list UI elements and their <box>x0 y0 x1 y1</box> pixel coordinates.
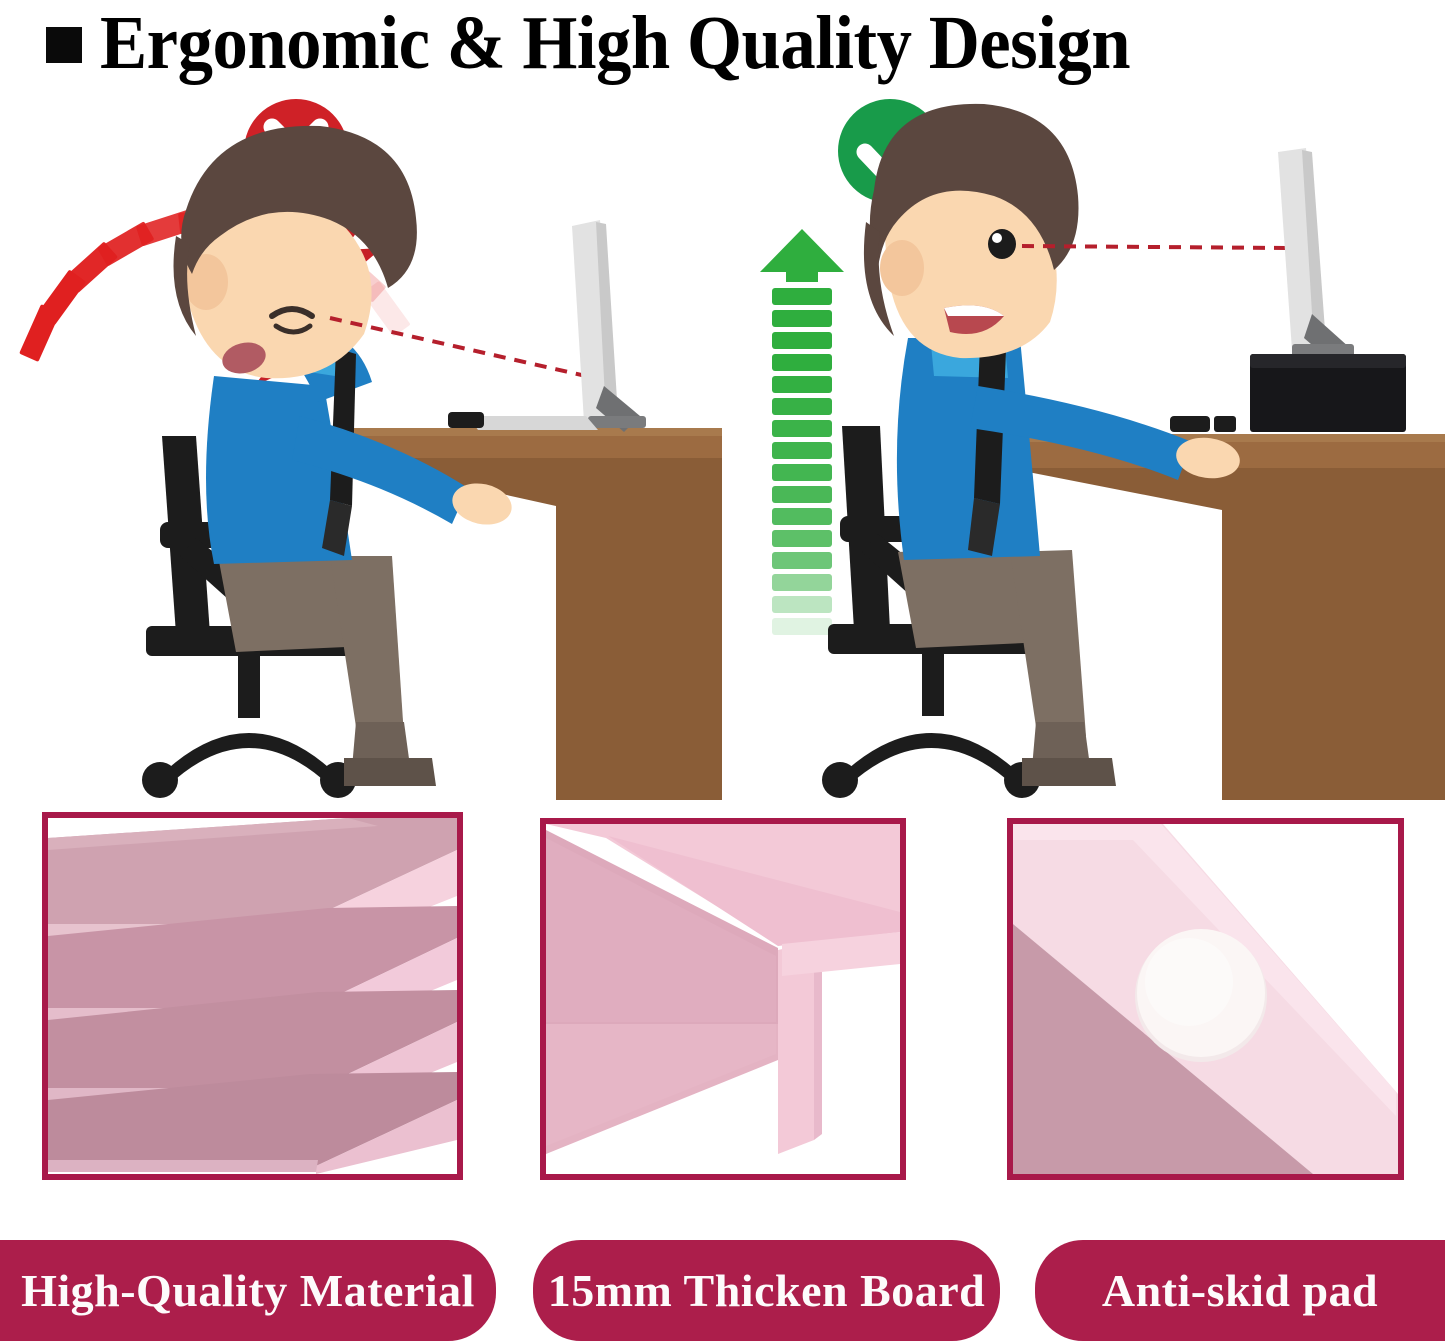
bad-posture-scene <box>0 86 722 800</box>
sight-line <box>330 318 586 376</box>
caption-banner-antiskid: Anti-skid pad <box>1035 1240 1445 1341</box>
monitor <box>1278 148 1354 364</box>
posture-comparison-illustration <box>0 86 1445 800</box>
stack-of-pink-boards-photo <box>48 818 457 1174</box>
monitor <box>572 220 646 432</box>
caption-label-material: High-Quality Material <box>21 1264 475 1317</box>
pink-board-edge-thickness-photo <box>546 824 900 1174</box>
feature-panel-thickness <box>540 818 906 1180</box>
green-up-arrow-icon <box>760 229 844 635</box>
head <box>864 104 1079 358</box>
monitor-riser-stand <box>1250 354 1406 432</box>
feature-panel-antiskid <box>1007 818 1404 1180</box>
bad-posture-graphic <box>0 86 722 800</box>
keyboard <box>448 412 598 430</box>
head <box>174 126 417 378</box>
page-title-row: Ergonomic & High Quality Design <box>0 0 1445 86</box>
feature-panel-material <box>42 812 463 1180</box>
anti-skid-pad <box>1135 929 1267 1062</box>
caption-label-antiskid: Anti-skid pad <box>1102 1264 1378 1317</box>
black-square-bullet-icon <box>46 27 82 63</box>
caption-banner-thickness: 15mm Thicken Board <box>533 1240 1000 1341</box>
good-posture-graphic <box>722 86 1445 800</box>
keyboard <box>1170 416 1236 432</box>
caption-label-thickness: 15mm Thicken Board <box>548 1264 986 1317</box>
caption-banner-material: High-Quality Material <box>0 1240 496 1341</box>
white-round-anti-skid-pad-photo <box>1013 824 1398 1174</box>
good-posture-scene <box>722 86 1445 800</box>
page-title: Ergonomic & High Quality Design <box>100 5 1130 81</box>
